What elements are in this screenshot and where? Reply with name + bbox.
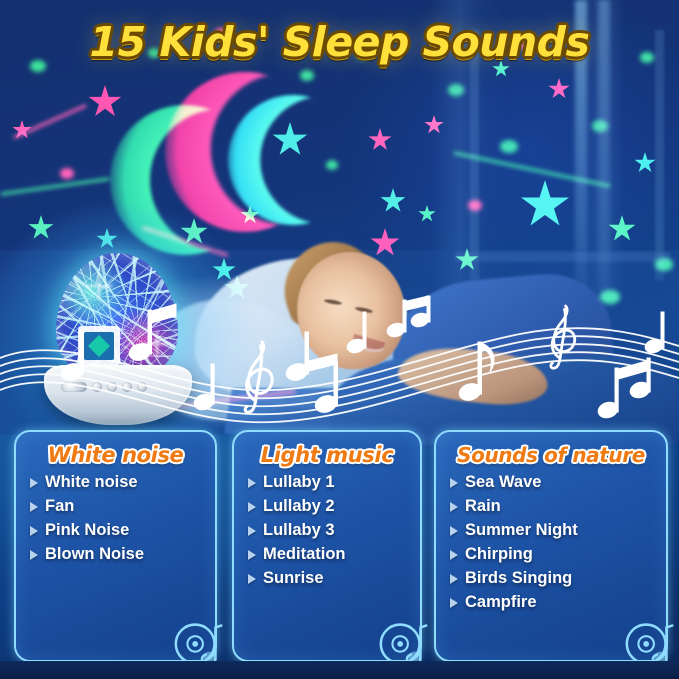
list-item-label: White noise [45, 473, 138, 492]
music-note [385, 296, 430, 339]
sound-list: Lullaby 1 Lullaby 2 Lullaby 3 Meditation… [234, 473, 420, 588]
projected-star [380, 188, 406, 214]
sound-list: White noise Fan Pink Noise Blown Noise [16, 473, 215, 564]
list-item-label: Birds Singing [465, 569, 572, 588]
list-item-label: Summer Night [465, 521, 578, 540]
triangle-bullet-icon [30, 478, 38, 488]
list-item-label: Lullaby 3 [263, 521, 335, 540]
light-dot [592, 120, 608, 132]
list-item-label: Chirping [465, 545, 533, 564]
triangle-bullet-icon [450, 502, 458, 512]
triangle-bullet-icon [450, 478, 458, 488]
triangle-bullet-icon [450, 526, 458, 536]
list-item[interactable]: Lullaby 1 [248, 473, 420, 492]
list-item[interactable]: Summer Night [450, 521, 666, 540]
list-item[interactable]: Birds Singing [450, 569, 666, 588]
light-dot [326, 160, 338, 170]
list-item-label: Sea Wave [465, 473, 541, 492]
list-item[interactable]: Lullaby 3 [248, 521, 420, 540]
triangle-bullet-icon [450, 598, 458, 608]
list-item-label: Rain [465, 497, 501, 516]
page-title: 15 Kids' Sleep Sounds [0, 18, 679, 66]
list-item-label: Sunrise [263, 569, 324, 588]
projection-ray [0, 177, 109, 195]
music-note [643, 312, 664, 355]
list-item-label: Meditation [263, 545, 346, 564]
light-dot [60, 168, 74, 179]
triangle-bullet-icon [450, 574, 458, 584]
triangle-bullet-icon [248, 478, 256, 488]
list-item-label: Campfire [465, 593, 537, 612]
list-item[interactable]: Rain [450, 497, 666, 516]
sound-list: Sea Wave Rain Summer Night Chirping Bird… [436, 473, 666, 612]
category-heading: Light music [234, 443, 420, 467]
list-item-label: Fan [45, 497, 74, 516]
triangle-bullet-icon [30, 502, 38, 512]
category-box-light-music[interactable]: Light music Lullaby 1 Lullaby 2 Lullaby … [232, 430, 422, 662]
list-item-label: Lullaby 2 [263, 497, 335, 516]
category-box-white-noise[interactable]: White noise White noise Fan Pink Noise B… [14, 430, 217, 662]
list-item[interactable]: Chirping [450, 545, 666, 564]
list-item-label: Lullaby 1 [263, 473, 335, 492]
window-frame-right [655, 30, 664, 280]
projected-star [88, 85, 122, 119]
triangle-bullet-icon [30, 526, 38, 536]
light-dot [655, 258, 673, 271]
light-dot [500, 140, 518, 153]
projection-ray [13, 104, 87, 139]
light-dot [448, 84, 464, 96]
album-art-note-icon [78, 326, 120, 366]
music-staff-overlay [0, 290, 679, 430]
list-item-label: Pink Noise [45, 521, 129, 540]
list-item[interactable]: Meditation [248, 545, 420, 564]
music-note [127, 304, 176, 363]
triangle-bullet-icon [248, 502, 256, 512]
product-feature-poster: 15 Kids' Sleep Sounds White noise White … [0, 0, 679, 679]
triangle-bullet-icon [248, 550, 256, 560]
category-heading: White noise [16, 443, 215, 467]
list-item[interactable]: Blown Noise [30, 545, 215, 564]
list-item[interactable]: Pink Noise [30, 521, 215, 540]
list-item[interactable]: Campfire [450, 593, 666, 612]
light-dot [468, 200, 482, 211]
projected-star [368, 128, 392, 152]
category-box-sounds-of-nature[interactable]: Sounds of nature Sea Wave Rain Summer Ni… [434, 430, 668, 662]
triangle-bullet-icon [248, 526, 256, 536]
music-note [596, 358, 652, 420]
list-item-label: Blown Noise [45, 545, 144, 564]
list-item[interactable]: Lullaby 2 [248, 497, 420, 516]
category-heading: Sounds of nature [436, 443, 666, 467]
triangle-bullet-icon [248, 574, 256, 584]
list-item[interactable]: Sunrise [248, 569, 420, 588]
light-dot [300, 70, 314, 81]
list-item[interactable]: White noise [30, 473, 215, 492]
music-note [192, 364, 216, 412]
triangle-bullet-icon [30, 550, 38, 560]
music-note [345, 312, 366, 355]
bottom-strip [0, 661, 679, 679]
list-item[interactable]: Fan [30, 497, 215, 516]
crescent-moon-cyan [228, 95, 358, 225]
sound-category-boxes: White noise White noise Fan Pink Noise B… [0, 430, 679, 665]
triangle-bullet-icon [450, 550, 458, 560]
list-item[interactable]: Sea Wave [450, 473, 666, 492]
